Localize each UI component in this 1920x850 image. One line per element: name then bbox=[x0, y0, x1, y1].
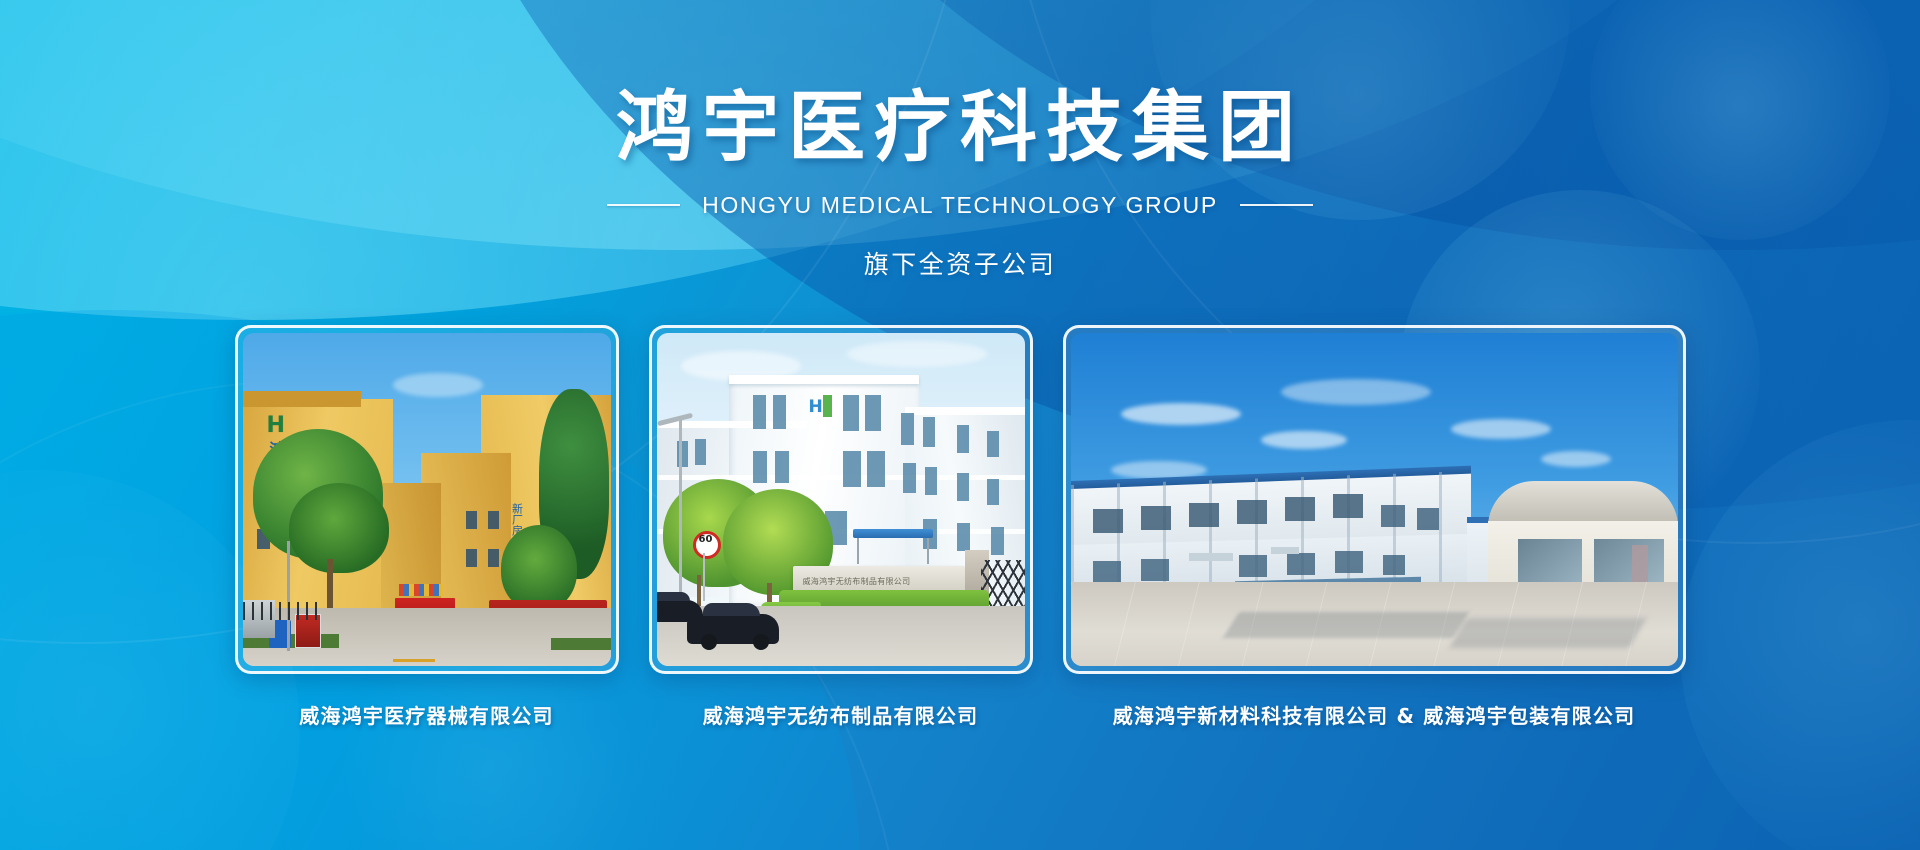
divider-line-left bbox=[607, 204, 680, 206]
page-title: 鸿宇医疗科技集团 bbox=[0, 88, 1920, 170]
photo-frame: H 鸿宇 bbox=[235, 325, 619, 674]
subsidiary-card[interactable]: H bbox=[649, 325, 1033, 729]
banner-header: 鸿宇医疗科技集团 HONGYU MEDICAL TECHNOLOGY GROUP… bbox=[0, 0, 1920, 281]
hero-banner: 鸿宇医疗科技集团 HONGYU MEDICAL TECHNOLOGY GROUP… bbox=[0, 0, 1920, 850]
card-caption: 威海鸿宇无纺布制品有限公司 bbox=[703, 700, 979, 729]
photo-frame: H bbox=[649, 325, 1033, 674]
tagline: 旗下全资子公司 bbox=[0, 245, 1920, 281]
divider-line-right bbox=[1240, 204, 1313, 206]
subsidiary-card-list: H 鸿宇 bbox=[0, 325, 1920, 729]
company-photo: H 鸿宇 bbox=[243, 333, 611, 666]
company-photo: H bbox=[1071, 333, 1678, 666]
card-caption: 威海鸿宇医疗器械有限公司 bbox=[299, 700, 553, 729]
subtitle-english: HONGYU MEDICAL TECHNOLOGY GROUP bbox=[702, 192, 1218, 219]
subsidiary-card[interactable]: H 鸿宇 bbox=[235, 325, 619, 729]
card-caption: 威海鸿宇新材料科技有限公司 & 威海鸿宇包装有限公司 bbox=[1113, 700, 1636, 729]
subtitle-row: HONGYU MEDICAL TECHNOLOGY GROUP bbox=[0, 192, 1920, 219]
subsidiary-card[interactable]: H bbox=[1063, 325, 1686, 729]
company-photo: H bbox=[657, 333, 1025, 666]
sign-text: 威海鸿宇无纺布制品有限公司 bbox=[803, 576, 911, 587]
photo-frame: H bbox=[1063, 325, 1686, 674]
